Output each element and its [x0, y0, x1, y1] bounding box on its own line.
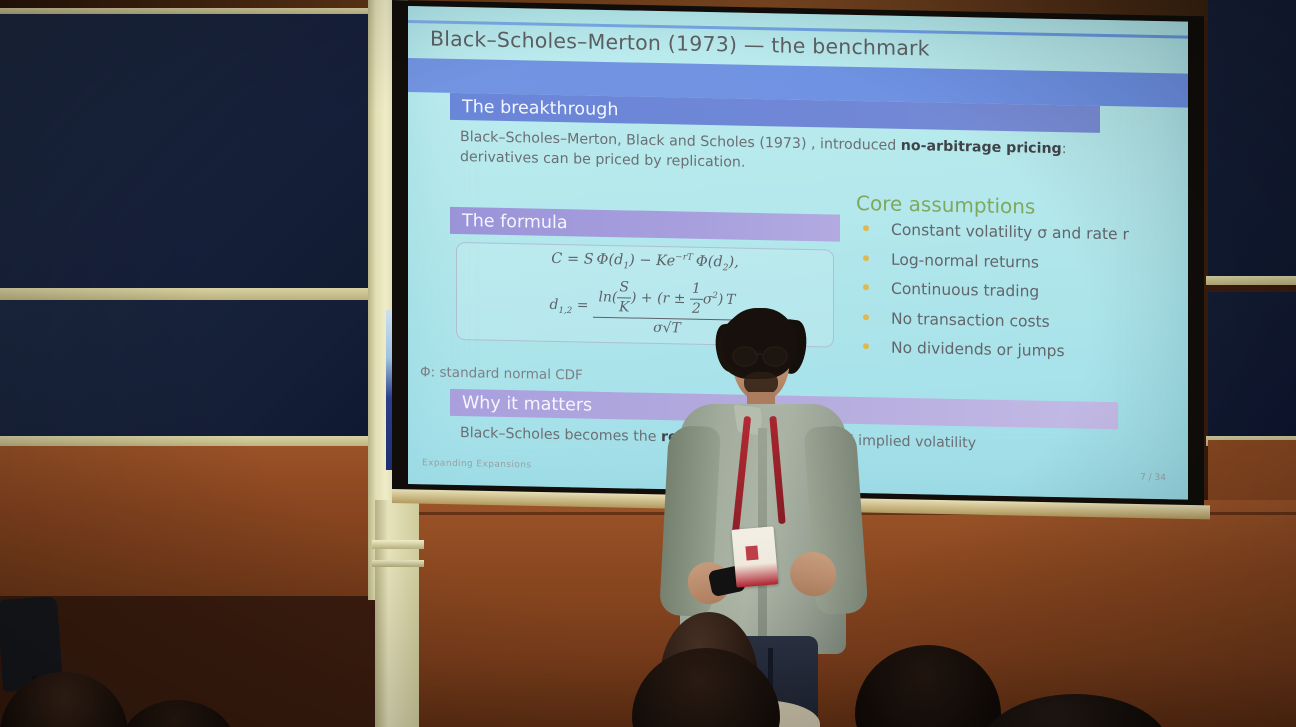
formula-d12-label: d1,2 = [549, 297, 588, 317]
room-pillar-lower [375, 500, 419, 727]
formula-line-1: C = S Φ(d1) − Ke−rT Φ(d2), [549, 250, 740, 275]
chalkboard-lower-left [0, 300, 378, 440]
presenter-glasses-bridge [754, 353, 762, 355]
chalkboard-upper-left [0, 14, 378, 292]
assumption-label: Constant volatility σ and rate r [891, 221, 1129, 244]
assumption-label: No dividends or jumps [891, 339, 1065, 360]
presenter-badge-logo [745, 546, 758, 561]
slide-title: Black–Scholes–Merton (1973) — the benchm… [430, 26, 930, 60]
core-assumptions-title: Core assumptions [856, 191, 1035, 219]
bullet-dot-icon [863, 225, 869, 231]
list-item: Log-normal returns [863, 250, 1183, 274]
pillar-shelf-lower [372, 560, 424, 567]
presenter-hair [722, 308, 798, 374]
audience-head [118, 700, 238, 727]
breakthrough-text-post: : [1062, 141, 1067, 157]
block-formula-heading: The formula [450, 207, 840, 242]
chalkboard-upper-right [1208, 0, 1296, 278]
presenter-glasses-left [732, 346, 758, 367]
breakthrough-text-line2: derivatives can be priced by replication… [460, 149, 745, 171]
assumption-label: Continuous trading [891, 280, 1039, 301]
lecture-hall-photo: Black–Scholes–Merton (1973) — the benchm… [0, 0, 1296, 727]
presenter-glasses-right [762, 346, 788, 367]
chalkboard-frame-mid-right [1206, 276, 1296, 285]
assumption-label: No transaction costs [891, 309, 1050, 330]
bullet-dot-icon [863, 255, 869, 261]
list-item: No transaction costs [863, 309, 1183, 333]
formula-note: Φ: standard normal CDF [420, 364, 583, 383]
assumption-label: Log-normal returns [891, 250, 1039, 271]
wall-panel-left [0, 446, 380, 596]
list-item: Constant volatility σ and rate r [863, 220, 1183, 244]
slide-page-number: 7 / 34 [1140, 473, 1166, 484]
pillar-shelf-upper [372, 540, 424, 549]
list-item: Continuous trading [863, 279, 1183, 303]
why-text-pre: Black–Scholes becomes the [460, 425, 661, 445]
list-item: No dividends or jumps [863, 338, 1183, 362]
block-breakthrough: The breakthrough Black–Scholes–Merton, B… [450, 93, 1100, 180]
breakthrough-text-bold: no-arbitrage pricing [901, 138, 1062, 157]
core-assumptions-list: Constant volatility σ and rate r Log-nor… [863, 220, 1183, 374]
bullet-dot-icon [863, 284, 869, 290]
chalkboard-lower-right [1208, 292, 1296, 440]
slide-footer-title: Expanding Expansions [422, 458, 531, 470]
